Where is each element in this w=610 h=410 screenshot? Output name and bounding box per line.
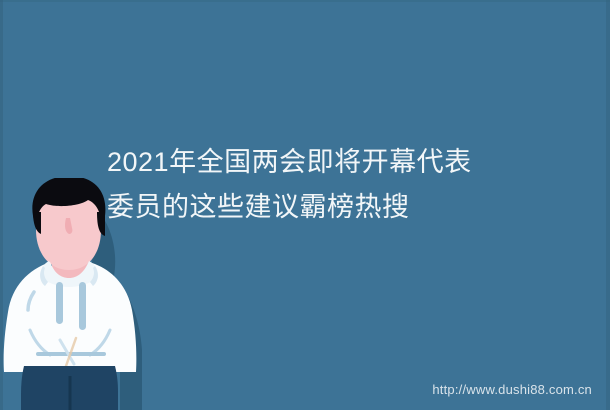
top-edge-strip: [0, 0, 610, 2]
drawstring-left: [56, 282, 63, 324]
headline-line-1: 2021年全国两会即将开幕代表: [107, 140, 567, 185]
source-url-watermark: http://www.dushi88.com.cn: [432, 382, 592, 397]
headline-block: 2021年全国两会即将开幕代表 委员的这些建议霸榜热搜: [107, 140, 567, 230]
right-edge-strip: [606, 0, 610, 410]
poster-canvas: 2021年全国两会即将开幕代表 委员的这些建议霸榜热搜 http://www.d…: [0, 0, 610, 410]
headline-line-2: 委员的这些建议霸榜热搜: [107, 185, 567, 230]
drawstring-right: [79, 282, 86, 330]
